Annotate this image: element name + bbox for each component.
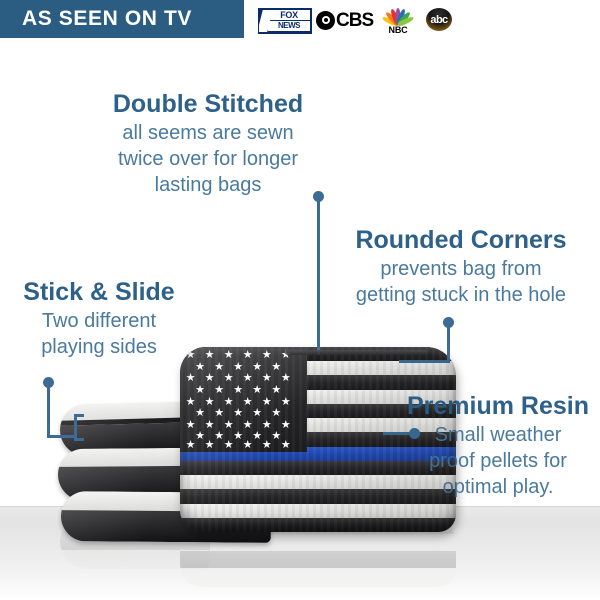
callout-double-stitched: Double Stitched all seems are sewn twice… — [58, 90, 358, 198]
callout-premium-resin: Premium Resin Small weather proof pellet… — [396, 392, 600, 500]
connector-line-stick-and-slide-vertical — [47, 383, 50, 438]
callout-double-stitched-line-3: lasting bags — [58, 172, 358, 198]
callout-double-stitched-line-2: twice over for longer — [58, 146, 358, 172]
connector-line-rounded-corners-horizontal — [399, 360, 450, 363]
as-seen-on-tv-banner: AS SEEN ON TV FOX NEWS CBS NBC abc — [0, 0, 600, 38]
callout-rounded-corners: Rounded Corners prevents bag from gettin… — [322, 226, 600, 308]
callout-stick-and-slide-line-1: Two different — [0, 308, 198, 334]
connector-line-double-stitched — [317, 197, 320, 355]
nbc-logo-text: NBC — [380, 25, 416, 35]
callout-stick-and-slide: Stick & Slide Two different playing side… — [0, 278, 198, 360]
banner-title: AS SEEN ON TV — [22, 0, 192, 38]
connector-line-stick-and-slide-horizontal — [47, 435, 77, 438]
product-image: ★ ★ ★ ★ ★ ★ ★ ★ ★ ★ ★ ★ ★ ★ ★ ★ ★ ★ ★ ★ — [55, 340, 455, 530]
callout-rounded-corners-line-2: getting stuck in the hole — [322, 282, 600, 308]
fox-news-logo: FOX NEWS — [258, 8, 312, 34]
fox-news-logo-line-2: NEWS — [268, 21, 310, 31]
nbc-logo: NBC — [380, 6, 416, 36]
callout-stick-and-slide-heading: Stick & Slide — [0, 278, 198, 306]
cbs-eye-icon — [316, 11, 335, 30]
flag-canton: ★ ★ ★ ★ ★ ★ ★ ★ ★ ★ ★ ★ ★ ★ ★ ★ ★ ★ ★ ★ — [180, 347, 307, 452]
connector-line-rounded-corners-vertical — [447, 323, 450, 363]
infographic-canvas: ★ ★ ★ ★ ★ ★ ★ ★ ★ ★ ★ ★ ★ ★ ★ ★ ★ ★ ★ ★ — [0, 0, 600, 600]
fox-news-logo-line-1: FOX — [268, 10, 310, 20]
abc-logo-text: abc — [430, 14, 447, 26]
abc-logo: abc — [426, 8, 452, 31]
callout-stick-and-slide-line-2: playing sides — [0, 334, 198, 360]
callout-rounded-corners-line-1: prevents bag from — [322, 256, 600, 282]
callout-premium-resin-heading: Premium Resin — [396, 392, 600, 420]
callout-premium-resin-line-1: Small weather — [396, 422, 600, 448]
bag-top-seam — [285, 350, 429, 355]
callout-double-stitched-heading: Double Stitched — [58, 90, 358, 118]
callout-premium-resin-line-3: optimal play. — [396, 474, 600, 500]
connector-bracket-stick-and-slide-spine — [74, 414, 77, 441]
callout-rounded-corners-heading: Rounded Corners — [322, 226, 600, 254]
connector-bracket-stick-and-slide-top — [74, 414, 84, 417]
cbs-logo-text: CBS — [336, 11, 373, 30]
callout-premium-resin-line-2: proof pellets for — [396, 448, 600, 474]
nbc-peacock-icon — [381, 6, 415, 25]
callout-double-stitched-line-1: all seems are sewn — [58, 120, 358, 146]
cbs-logo: CBS — [316, 9, 373, 31]
connector-bracket-stick-and-slide-bottom — [74, 438, 84, 441]
